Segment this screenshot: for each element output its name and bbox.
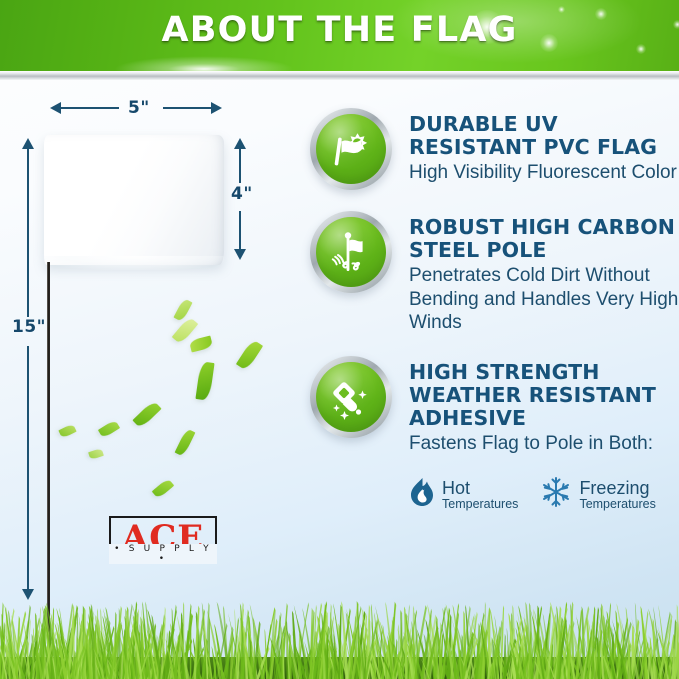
infographic-root: ABOUT THE FLAG 5" 4" 15" [0, 0, 679, 679]
feature-text-block: DURABLE UV RESISTANT PVC FLAG High Visib… [392, 108, 679, 185]
page-title: ABOUT THE FLAG [0, 10, 679, 50]
feature-item-adhesive: HIGH STRENGTH WEATHER RESISTANT ADHESIVE… [310, 356, 679, 456]
adhesive-glue-icon [316, 362, 386, 432]
dimension-arrow-up [22, 138, 34, 149]
feature-title: DURABLE UV RESISTANT PVC FLAG [409, 113, 679, 159]
dimension-arrow-up [234, 138, 246, 149]
dimension-arrow-left [50, 102, 61, 114]
feature-icon-badge [310, 108, 392, 190]
dimension-line-pole [27, 346, 29, 589]
flag-sun-icon [316, 114, 386, 184]
feature-icon-badge [310, 211, 392, 293]
temperature-title: Hot [442, 479, 518, 497]
grass-decoration [0, 591, 679, 679]
temperature-labels: Hot Temperatures [442, 479, 518, 511]
temperature-title: Freezing [579, 479, 655, 497]
feature-title: ROBUST HIGH CARBON STEEL POLE [409, 216, 679, 262]
dimension-line-width [61, 107, 119, 109]
feature-text-block: HIGH STRENGTH WEATHER RESISTANT ADHESIVE… [392, 356, 679, 456]
logo-tagline: • S U P P L Y • [109, 544, 217, 566]
temperature-item-freezing: Freezing Temperatures [540, 476, 655, 513]
temperature-subtitle: Temperatures [442, 497, 518, 511]
dimension-line-height [239, 211, 241, 249]
feature-description: High Visibility Fluorescent Color [409, 161, 679, 185]
temperature-row: Hot Temperatures Freez [409, 476, 679, 513]
dimension-label-width: 5" [128, 98, 150, 118]
dimension-arrow-down [234, 249, 246, 260]
header-divider-bar [0, 71, 679, 80]
feature-item-uv-resistant: DURABLE UV RESISTANT PVC FLAG High Visib… [310, 108, 679, 190]
header-shine-decoration [114, 56, 294, 71]
dimension-line-pole [27, 149, 29, 317]
flag-pole-wind-icon [316, 217, 386, 287]
header-band: ABOUT THE FLAG [0, 0, 679, 71]
snowflake-icon [540, 476, 572, 513]
dimension-label-pole: 15" [12, 317, 46, 337]
feature-list: DURABLE UV RESISTANT PVC FLAG High Visib… [310, 108, 679, 513]
ace-supply-logo: ACE • S U P P L Y • [109, 516, 217, 559]
feature-description: Penetrates Cold Dirt Without Bending and… [409, 264, 679, 335]
feature-description: Fastens Flag to Pole in Both: [409, 432, 679, 456]
dimension-label-height: 4" [231, 184, 253, 204]
grass-blades [0, 591, 679, 679]
feature-icon-badge [310, 356, 392, 438]
feature-title: HIGH STRENGTH WEATHER RESISTANT ADHESIVE [409, 361, 679, 430]
flame-icon [409, 477, 435, 512]
logo-tagline-text: • S U P P L Y • [109, 544, 217, 564]
dimension-arrow-right [211, 102, 222, 114]
temperature-subtitle: Temperatures [579, 497, 655, 511]
temperature-item-hot: Hot Temperatures [409, 477, 518, 512]
feature-item-steel-pole: ROBUST HIGH CARBON STEEL POLE Penetrates… [310, 211, 679, 335]
dimension-line-width [163, 107, 211, 109]
feature-text-block: ROBUST HIGH CARBON STEEL POLE Penetrates… [392, 211, 679, 335]
dimension-line-height [239, 149, 241, 183]
temperature-labels: Freezing Temperatures [579, 479, 655, 511]
flag-cloth [44, 135, 224, 265]
